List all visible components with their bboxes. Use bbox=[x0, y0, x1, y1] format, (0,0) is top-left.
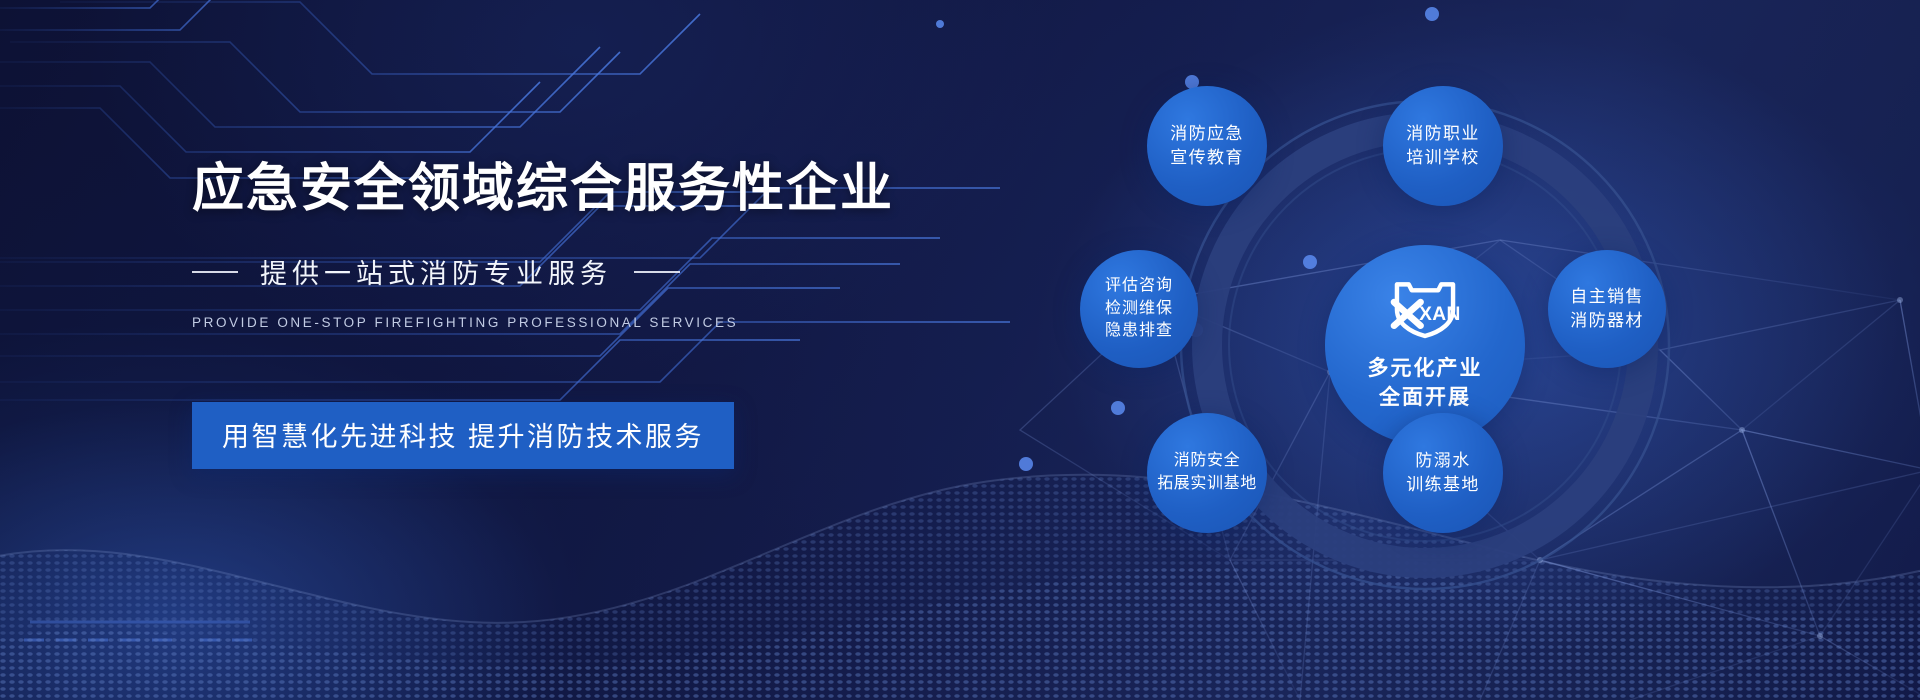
hero-copy: 应急安全领域综合服务性企业 提供一站式消防专业服务 PROVIDE ONE-ST… bbox=[192, 160, 912, 469]
page-title: 应急安全领域综合服务性企业 bbox=[192, 160, 912, 218]
node-line-2: 培训学校 bbox=[1406, 146, 1480, 170]
center-line-2: 全面开展 bbox=[1379, 383, 1471, 413]
rule-right-dash bbox=[634, 271, 680, 273]
node-line-2: 宣传教育 bbox=[1170, 146, 1244, 170]
node-line-1: 消防安全 bbox=[1174, 450, 1240, 473]
diagram-node-bottom-right[interactable]: 防溺水 训练基地 bbox=[1383, 413, 1503, 533]
xan-shield-logo: XAN bbox=[1386, 277, 1464, 348]
node-line-2: 检测维保 bbox=[1105, 298, 1173, 321]
node-line-2: 消防器材 bbox=[1570, 309, 1644, 333]
node-line-2: 拓展实训基地 bbox=[1157, 473, 1257, 496]
shield-icon: XAN bbox=[1386, 277, 1464, 339]
node-line-1: 消防职业 bbox=[1406, 122, 1480, 146]
node-line-1: 消防应急 bbox=[1170, 122, 1244, 146]
services-diagram: XAN 多元化产业 全面开展 消防应急 宣传教育 消防职业 培训学校 评估咨询 … bbox=[1120, 60, 1820, 640]
diagram-node-right[interactable]: 自主销售 消防器材 bbox=[1548, 250, 1666, 368]
cta-button[interactable]: 用智慧化先进科技 提升消防技术服务 bbox=[192, 402, 734, 469]
diagram-node-left[interactable]: 评估咨询 检测维保 隐患排查 bbox=[1080, 250, 1198, 368]
node-line-1: 评估咨询 bbox=[1105, 275, 1173, 298]
node-line-1: 防溺水 bbox=[1415, 449, 1470, 473]
center-line-1: 多元化产业 bbox=[1368, 354, 1483, 384]
node-line-3: 隐患排查 bbox=[1105, 320, 1173, 343]
english-subtitle: PROVIDE ONE-STOP FIREFIGHTING PROFESSION… bbox=[192, 315, 912, 330]
diagram-node-top-right[interactable]: 消防职业 培训学校 bbox=[1383, 86, 1503, 206]
node-line-1: 自主销售 bbox=[1570, 285, 1644, 309]
hero-banner: 应急安全领域综合服务性企业 提供一站式消防专业服务 PROVIDE ONE-ST… bbox=[0, 0, 1920, 700]
subheadline-row: 提供一站式消防专业服务 bbox=[192, 252, 912, 291]
rule-left-dash bbox=[192, 271, 238, 273]
node-line-2: 训练基地 bbox=[1406, 473, 1480, 497]
diagram-node-bottom-left[interactable]: 消防安全 拓展实训基地 bbox=[1147, 413, 1267, 533]
svg-text:XAN: XAN bbox=[1419, 304, 1461, 325]
subheadline: 提供一站式消防专业服务 bbox=[260, 252, 612, 291]
diagram-node-top-left[interactable]: 消防应急 宣传教育 bbox=[1147, 86, 1267, 206]
